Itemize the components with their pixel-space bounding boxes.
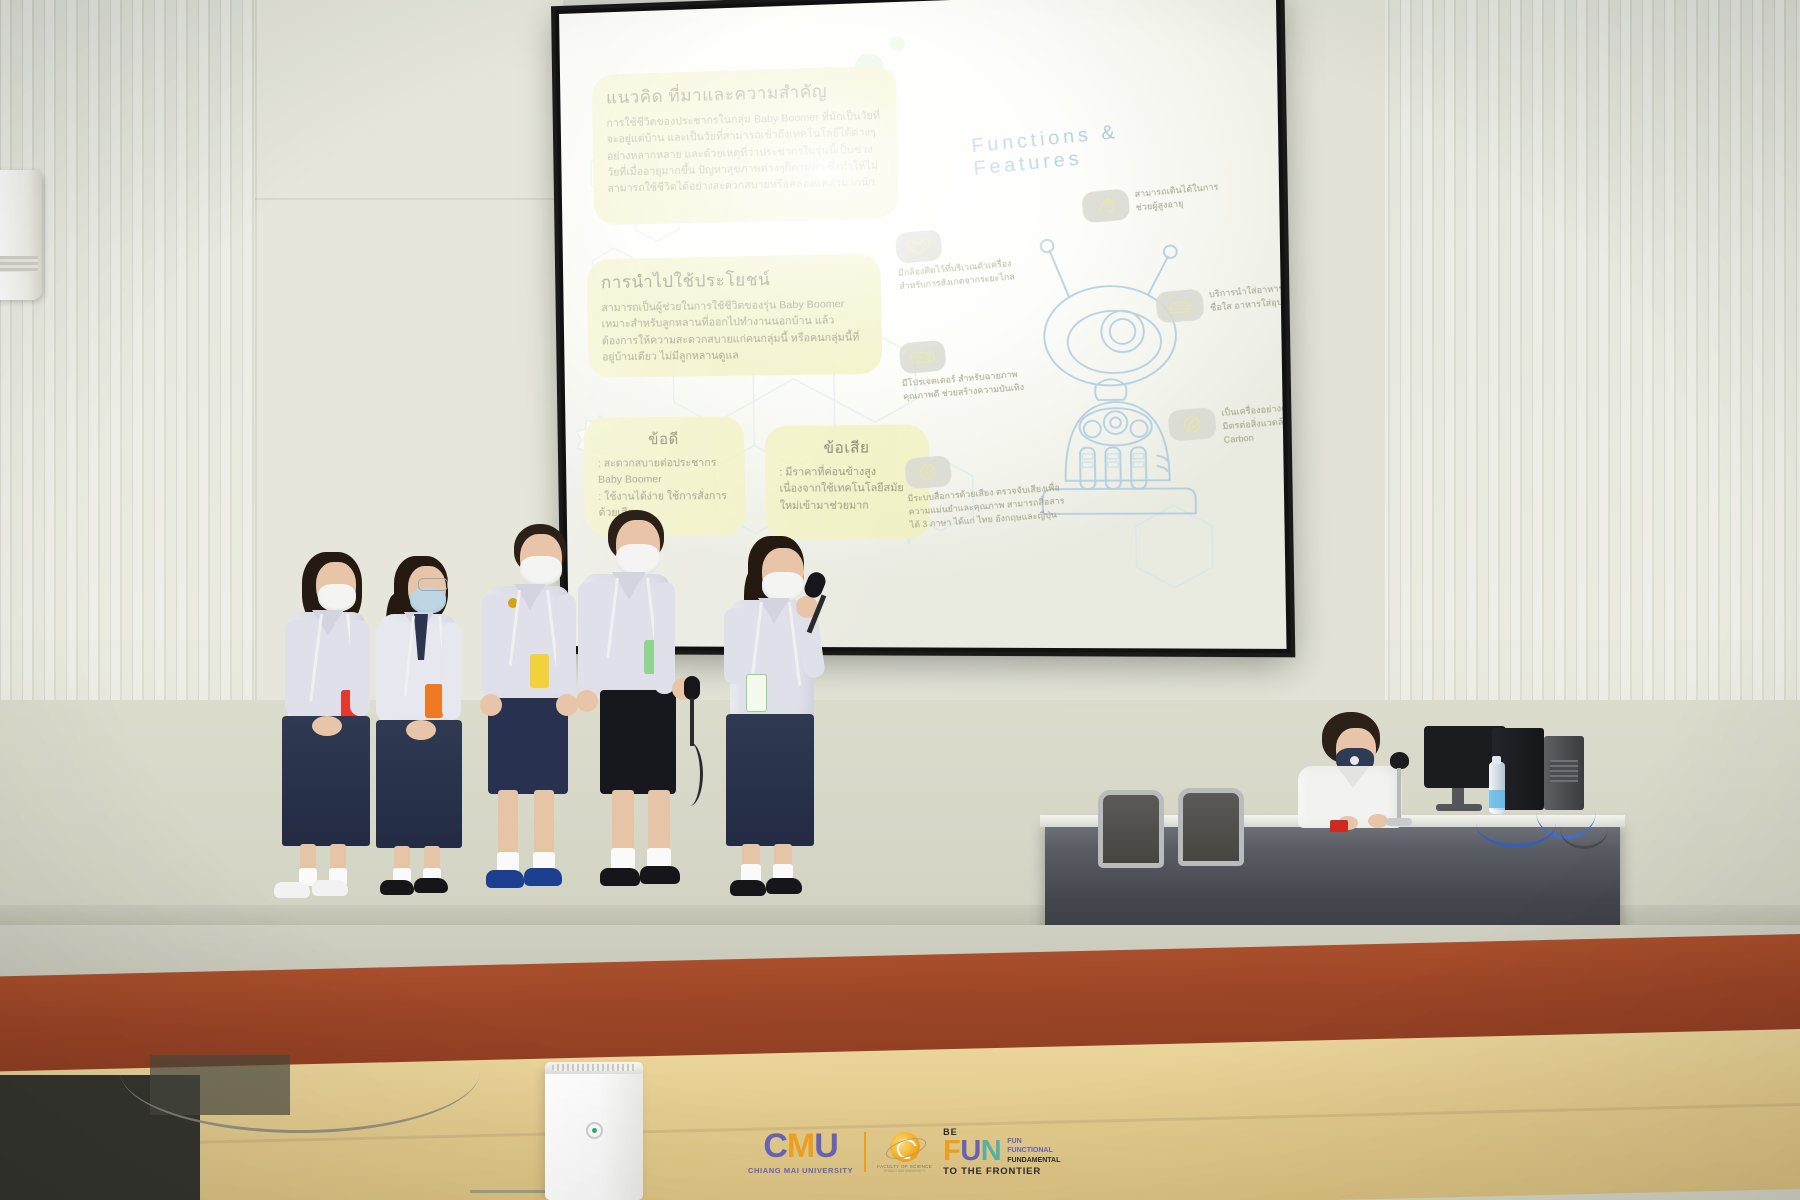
projection-screen: แนวคิด ที่มาและความสำคัญ การใช้ชีวิตของป… — [555, 0, 1291, 653]
projector-icon — [899, 340, 947, 374]
pros-heading: ข้อดี — [597, 426, 730, 451]
fun-meta-2: FUNCTIONAL — [1007, 1146, 1060, 1155]
monitor-base — [1436, 804, 1482, 811]
sun-spiral-icon — [890, 1132, 920, 1162]
food-icon — [1155, 289, 1205, 324]
slide-card-usage: การนำไปใช้ประโยชน์ สามารถเป็นผู้ช่วยในกา… — [587, 254, 883, 378]
fun-meta-1: FUN — [1007, 1137, 1060, 1146]
face-mask — [318, 584, 356, 612]
auditorium-scene: แนวคิด ที่มาและความสำคัญ การใช้ชีวิตของป… — [0, 0, 1800, 1200]
cons-heading: ข้อเสีย — [779, 435, 915, 461]
cons-body: : มีราคาที่ค่อนข้างสูง เนื่องจากใช้เทคโน… — [779, 463, 915, 513]
be-fun-logo: BE FUN FUN FUNCTIONAL FUNDAMENTAL TO THE… — [943, 1128, 1060, 1177]
feature-item: มีระบบสื่อการด้วยเสียง ตรวจจับเสียงเพื่อ… — [904, 447, 1067, 532]
face-mask — [616, 544, 660, 576]
fun-wordmark: FUN — [943, 1138, 1001, 1166]
slide-surface: แนวคิด ที่มาและความสำคัญ การใช้ชีวิตของป… — [559, 0, 1286, 649]
cmu-letter-u: U — [814, 1127, 838, 1165]
slide-card-concept: แนวคิด ที่มาและความสำคัญ การใช้ชีวิตของป… — [592, 65, 899, 225]
chair[interactable] — [1178, 788, 1244, 866]
fun-letter-n: N — [981, 1135, 1001, 1167]
air-conditioner-unit — [0, 170, 42, 300]
concept-heading: แนวคิด ที่มาและความสำคัญ — [606, 76, 882, 112]
fun-meaning-block: FUN FUNCTIONAL FUNDAMENTAL — [1007, 1137, 1060, 1165]
name-badge — [530, 654, 549, 688]
air-purifier-grille — [552, 1064, 636, 1071]
speaker-icon — [904, 455, 952, 489]
face-mask — [520, 556, 562, 586]
power-indicator-icon — [586, 1122, 603, 1139]
fluted-wall-panel-left — [0, 0, 255, 760]
logo-divider — [864, 1132, 866, 1172]
cmu-letter-m: M — [787, 1127, 814, 1165]
fun-letter-u: U — [960, 1135, 980, 1167]
bottle-cap — [1492, 756, 1501, 764]
cmu-letters: CMU — [763, 1129, 837, 1163]
feature-text: เป็นเครื่องอย่างคุณที่เป็นมิตรต่อสิ่งแวด… — [1221, 399, 1287, 446]
pros-body: : สะดวกสบายต่อประชากร Baby Boomer : ใช้ง… — [598, 455, 732, 521]
equipment-vents — [1550, 760, 1578, 782]
deco-blob — [889, 36, 905, 51]
cmu-letter-c: C — [763, 1127, 787, 1165]
cmu-university-name: CHIANG MAI UNIVERSITY — [748, 1166, 853, 1175]
eyeglasses-icon — [418, 578, 448, 591]
walker-icon — [1081, 188, 1130, 223]
desk-marker — [1330, 820, 1348, 832]
cmu-logo: CMU CHIANG MAI UNIVERSITY — [748, 1129, 853, 1175]
face-mask — [762, 572, 804, 602]
feature-item: มีกล้องติดไว้ที่บริเวณตัวเครื่อง สำหรับก… — [895, 221, 1033, 293]
name-badge — [746, 674, 767, 712]
frontier-tagline: TO THE FRONTIER — [943, 1167, 1060, 1177]
faculty-of-science-logo: FACULTY OF SCIENCE CHIANG MAI UNIVERSITY — [877, 1132, 932, 1173]
fun-meta-3: FUNDAMENTAL — [1007, 1156, 1060, 1165]
faculty-name-line2: CHIANG MAI UNIVERSITY — [884, 1169, 925, 1173]
chair[interactable] — [1098, 790, 1164, 868]
feature-item: มีโปรเจคเตอร์ สำหรับฉายภาพคุณภาพดี ช่วยส… — [899, 332, 1037, 403]
camera-icon — [895, 229, 943, 264]
usage-heading: การนำไปใช้ประโยชน์ — [601, 264, 867, 296]
wall-seam — [255, 0, 257, 700]
venue-logo-bar: CMU CHIANG MAI UNIVERSITY FACULTY OF SCI… — [748, 1128, 1060, 1177]
eco-icon — [1167, 407, 1217, 442]
usage-body: สามารถเป็นผู้ช่วยในการใช้ชีวิตของรุ่น Ba… — [601, 296, 867, 366]
name-badge — [425, 684, 443, 718]
desk-microphone[interactable] — [1384, 752, 1414, 830]
slide-card-pros: ข้อดี : สะดวกสบายต่อประชากร Baby Boomer … — [583, 416, 746, 536]
handheld-microphone[interactable] — [684, 676, 700, 700]
wall-seam — [255, 198, 565, 200]
concept-body: การใช้ชีวิตของประชากรในกลุ่ม Baby Boomer… — [606, 108, 883, 198]
fun-letter-f: F — [943, 1135, 960, 1167]
ac-vent-icon — [0, 256, 38, 272]
face-mask — [410, 588, 446, 614]
